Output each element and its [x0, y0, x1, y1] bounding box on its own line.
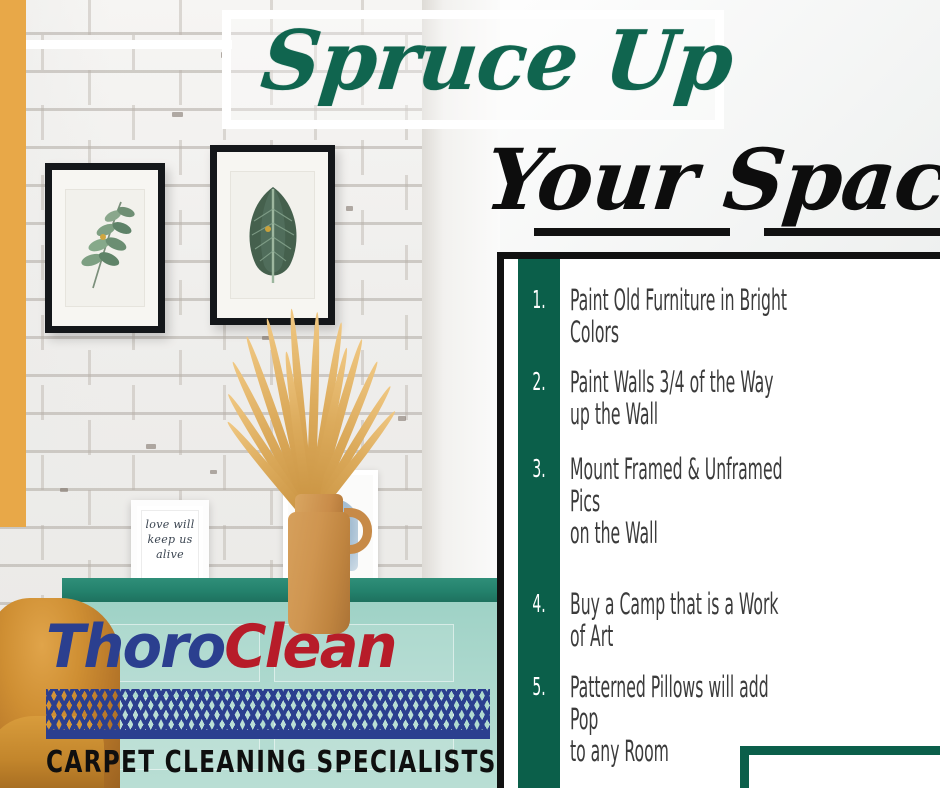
pampas-grass	[230, 305, 390, 520]
framed-print-olive-branch	[45, 163, 165, 333]
framed-print-banana-leaf	[210, 145, 335, 325]
list-item-number: 3.	[526, 454, 552, 483]
green-corner-accent	[740, 746, 940, 788]
page-title-line-1: Spruce Up	[258, 20, 736, 102]
list-item-text: Paint Walls 3/4 of the Way up the Wall	[570, 367, 790, 431]
title-underline-left	[534, 228, 730, 236]
console-table-top	[62, 578, 500, 604]
quote-text: love will keep us alive	[137, 518, 203, 563]
logo-tagline: CARPET CLEANING SPECIALISTS	[46, 745, 497, 780]
olive-branch-icon	[67, 196, 143, 300]
list-item-text: Mount Framed & Unframed Pics on the Wall	[570, 454, 790, 550]
logo-word-clean: Clean	[224, 612, 395, 682]
orange-accent-stripe	[0, 0, 26, 527]
list-item-text: Paint Old Furniture in Bright Colors	[570, 285, 790, 349]
logo-rule	[46, 730, 490, 739]
list-item-number: 4.	[526, 589, 552, 618]
list-item-number: 2.	[526, 367, 552, 396]
list-item-number: 5.	[526, 672, 552, 701]
list-item-number: 1.	[526, 285, 552, 314]
list-item-text: Buy a Camp that is a Work of Art	[570, 589, 790, 653]
white-frame-dash	[26, 40, 232, 49]
tips-list: 1.Paint Old Furniture in Bright Colors2.…	[504, 259, 940, 788]
banana-leaf-icon	[236, 179, 310, 291]
thoroclean-logo: ThoroClean CARPET CLEANING SPECIALISTS	[46, 617, 494, 777]
logo-word-thoro: Thoro	[46, 612, 224, 682]
title-underline-right	[764, 228, 940, 236]
poster-canvas: love will keep us alive	[0, 0, 940, 788]
page-title-line-2: Your Space	[482, 138, 940, 222]
tips-list-panel: 1.Paint Old Furniture in Bright Colors2.…	[497, 252, 940, 788]
logo-wordmark: ThoroClean	[46, 617, 396, 677]
carpet-fiber-pattern-icon	[46, 689, 490, 733]
